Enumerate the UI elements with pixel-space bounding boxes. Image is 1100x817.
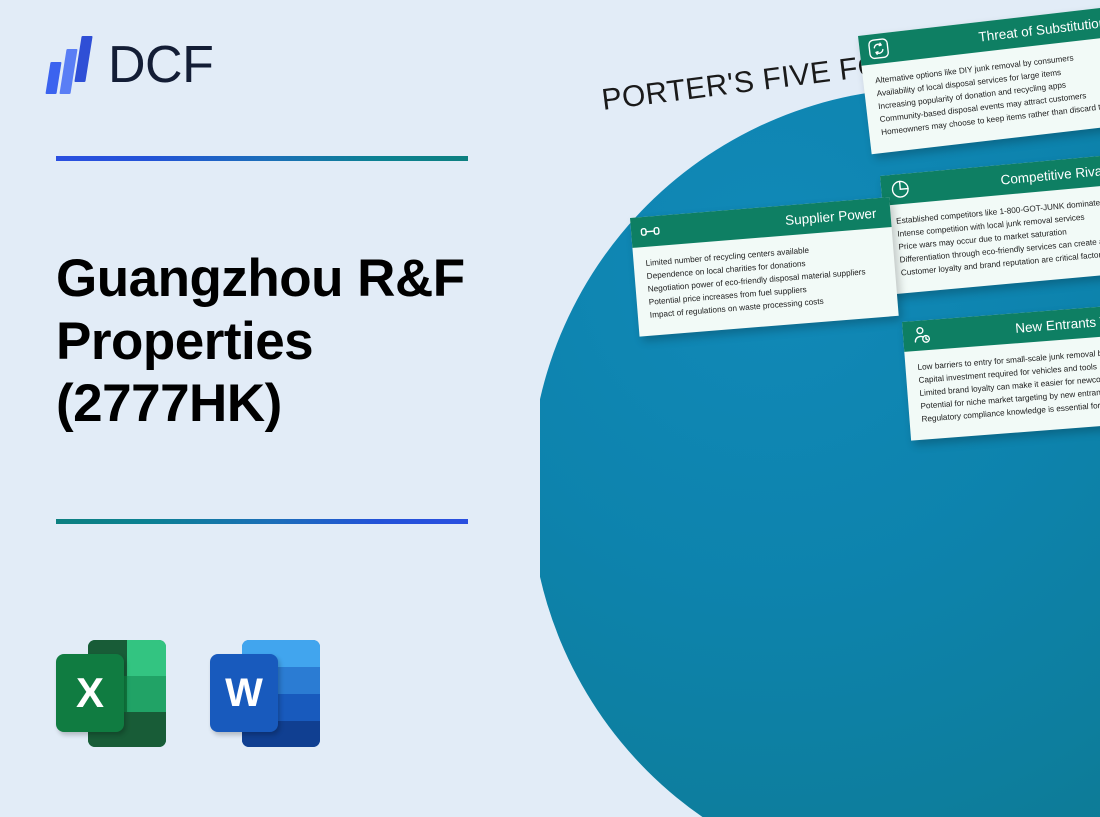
- brand-logo-text: DCF: [108, 39, 213, 91]
- refresh-cycle-icon: [866, 37, 890, 61]
- brand-logo[interactable]: DCF: [46, 36, 213, 94]
- dumbbell-icon: [638, 220, 662, 244]
- divider-top: [56, 156, 468, 161]
- card-title: Competitive Rivalry: [1000, 162, 1100, 187]
- card-title: New Entrants Threat: [1015, 311, 1100, 335]
- force-card-new-entrants-threat[interactable]: New Entrants Threat Low barriers to entr…: [902, 303, 1100, 441]
- force-card-threat-of-substitution[interactable]: Threat of Substitution Alternative optio…: [858, 6, 1100, 154]
- card-title: Supplier Power: [785, 206, 877, 228]
- file-format-icons: X W: [56, 632, 320, 754]
- left-info-panel: DCF Guangzhou R&F Properties (2777HK) X …: [0, 0, 540, 817]
- excel-file-icon[interactable]: X: [56, 632, 166, 754]
- word-letter: W: [225, 673, 263, 713]
- porters-five-forces-graphic: PORTER'S FIVE FORCES ANALYSIS Threat of …: [540, 0, 1100, 817]
- force-card-supplier-power[interactable]: Supplier Power Limited number of recycli…: [630, 197, 899, 336]
- page-root: DCF Guangzhou R&F Properties (2777HK) X …: [0, 0, 1100, 817]
- divider-bottom: [56, 519, 468, 524]
- word-file-icon[interactable]: W: [210, 632, 320, 754]
- force-card-competitive-rivalry[interactable]: Competitive Rivalry Established competit…: [880, 153, 1100, 294]
- user-badge-icon: [910, 324, 934, 348]
- page-title: Guangzhou R&F Properties (2777HK): [56, 248, 496, 436]
- pie-chart-icon: [888, 177, 912, 201]
- card-title: Threat of Substitution: [978, 15, 1100, 45]
- excel-letter: X: [76, 672, 104, 714]
- bar-chart-logo-icon: [46, 36, 98, 94]
